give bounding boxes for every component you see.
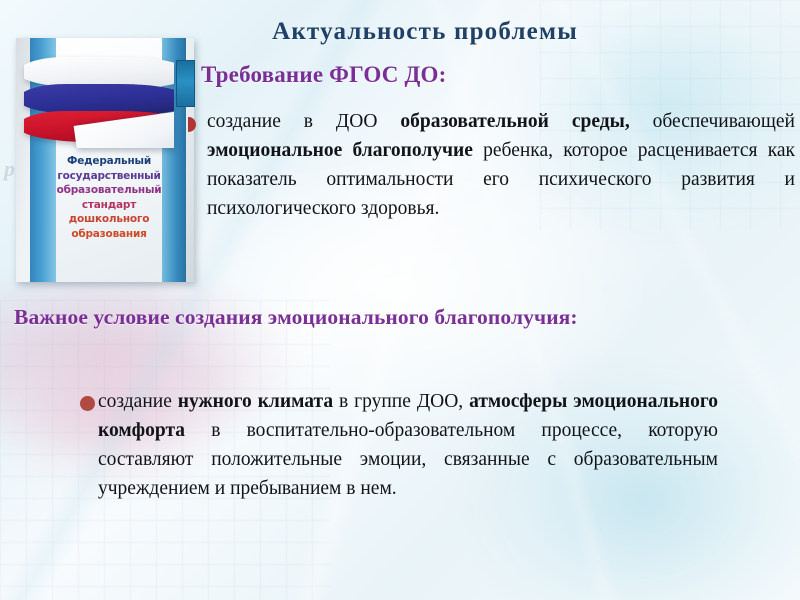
accent-bar [176, 60, 195, 107]
section-2-heading: Важное условие создания эмоционального б… [14, 305, 578, 330]
book-cover-line: дошкольного [54, 212, 164, 227]
book-cover-line: образовательный [54, 183, 164, 198]
section-2-body: создание нужного климата в группе ДОО, а… [98, 387, 718, 503]
fgos-book-cover-image: Федеральный государственный образователь… [16, 38, 194, 282]
section-1-body: создание в ДОО образовательной среды, об… [207, 107, 795, 223]
book-cover-title: Федеральный государственный образователь… [54, 154, 164, 241]
book-cover-line: стандарт [54, 198, 164, 213]
section-1-heading: Требование ФГОС ДО: [201, 62, 447, 88]
book-cover-line: Федеральный [54, 154, 164, 169]
russian-flag-icon [24, 56, 174, 148]
book-cover-line: образования [54, 227, 164, 242]
book-cover-line: государственный [54, 169, 164, 184]
presentation-slide: ped-kopilka.ru Актуальность проблемы Фед… [0, 0, 800, 600]
circle-bullet-icon [80, 396, 95, 411]
